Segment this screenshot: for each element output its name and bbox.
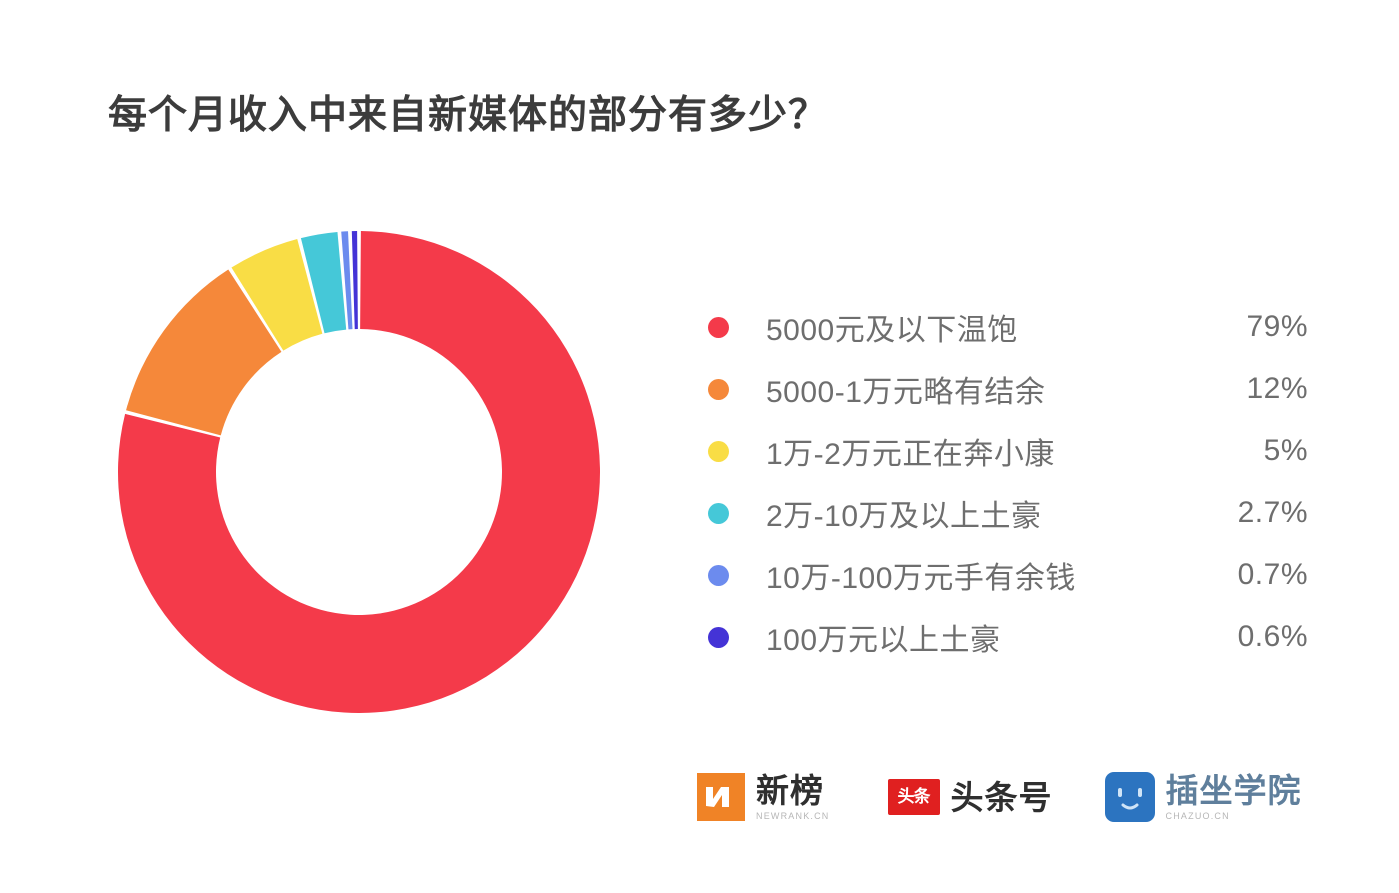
legend-item[interactable]: 1万-2万元正在奔小康5% — [708, 420, 1308, 482]
legend-item[interactable]: 2万-10万及以上土豪2.7% — [708, 482, 1308, 544]
donut-slices — [118, 231, 600, 713]
legend-item[interactable]: 5000-1万元略有结余12% — [708, 358, 1308, 420]
logo-newrank-text: 新榜 NEWRANK.CN — [756, 774, 830, 821]
logo-toutiaohao-text: 头条号 — [951, 781, 1053, 814]
legend-color-swatch-icon — [708, 317, 729, 338]
page-title: 每个月收入中来自新媒体的部分有多少？ — [108, 84, 828, 140]
legend-item-label: 5000元及以下温饱 — [766, 305, 1190, 349]
legend-item-value: 79% — [1190, 310, 1308, 344]
legend-item-value: 12% — [1190, 372, 1308, 406]
legend-color-swatch-icon — [708, 441, 729, 462]
legend-color-swatch-icon — [708, 503, 729, 524]
donut-slice[interactable] — [352, 231, 358, 329]
logo-chazuo-sub: CHAZUO.CN — [1166, 811, 1302, 821]
logo-chazuo-text: 插坐学院 CHAZUO.CN — [1166, 774, 1302, 821]
logo-toutiaohao: 头条 头条号 — [888, 779, 1053, 815]
logo-newrank-sub: NEWRANK.CN — [756, 811, 830, 821]
legend-color-swatch-icon — [708, 627, 729, 648]
legend-item-label: 2万-10万及以上土豪 — [766, 491, 1190, 535]
footer-logos: 新榜 NEWRANK.CN 头条 头条号 插坐学院 CHAZUO.CN — [697, 772, 1302, 822]
donut-chart — [118, 231, 600, 713]
toutiao-mark-icon: 头条 — [888, 779, 940, 815]
logo-newrank-name: 新榜 — [756, 774, 830, 807]
legend-item-label: 100万元以上土豪 — [766, 615, 1190, 659]
legend-item-value: 0.6% — [1190, 620, 1308, 654]
donut-chart-svg — [118, 231, 600, 713]
chazuo-mark-icon — [1105, 772, 1155, 822]
logo-chazuo-name: 插坐学院 — [1166, 774, 1302, 807]
legend-item-label: 5000-1万元略有结余 — [766, 367, 1190, 411]
legend-item-label: 10万-100万元手有余钱 — [766, 553, 1190, 597]
legend-color-swatch-icon — [708, 379, 729, 400]
logo-chazuo: 插坐学院 CHAZUO.CN — [1105, 772, 1302, 822]
newrank-mark-icon — [697, 773, 745, 821]
logo-toutiaohao-name: 头条号 — [951, 781, 1053, 814]
legend-item-value: 0.7% — [1190, 558, 1308, 592]
legend-item[interactable]: 100万元以上土豪0.6% — [708, 606, 1308, 668]
legend-item-value: 5% — [1190, 434, 1308, 468]
legend-item-label: 1万-2万元正在奔小康 — [766, 429, 1190, 473]
legend-item[interactable]: 5000元及以下温饱79% — [708, 296, 1308, 358]
legend-color-swatch-icon — [708, 565, 729, 586]
chart-legend: 5000元及以下温饱79%5000-1万元略有结余12%1万-2万元正在奔小康5… — [708, 296, 1308, 668]
logo-newrank: 新榜 NEWRANK.CN — [697, 773, 830, 821]
legend-item-value: 2.7% — [1190, 496, 1308, 530]
legend-item[interactable]: 10万-100万元手有余钱0.7% — [708, 544, 1308, 606]
